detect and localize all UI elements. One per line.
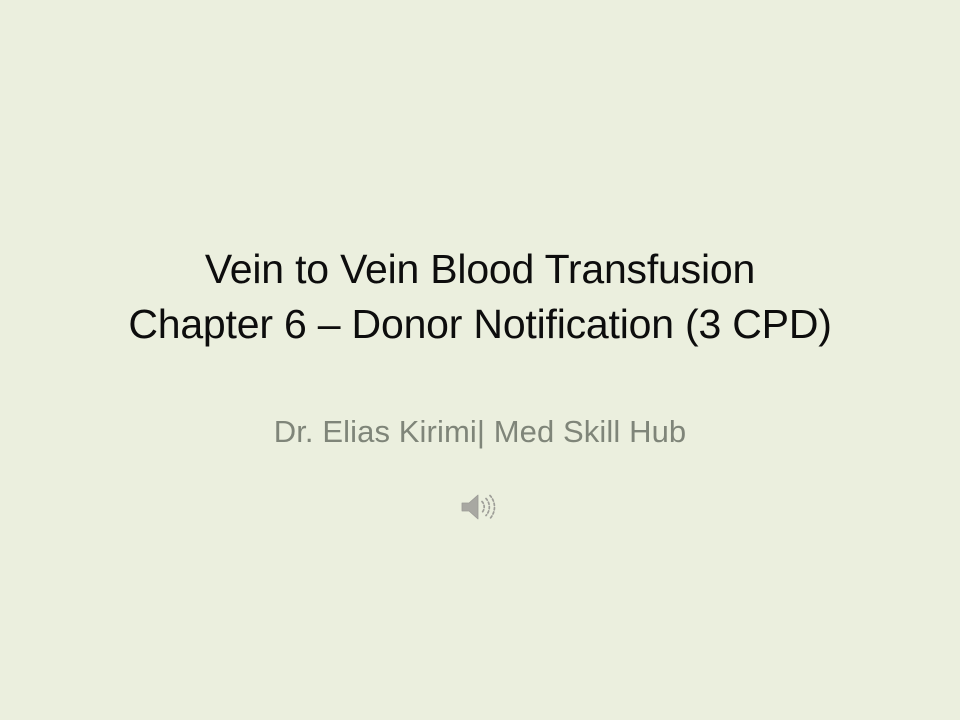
slide-subtitle: Dr. Elias Kirimi| Med Skill Hub (0, 412, 960, 452)
slide-title: Vein to Vein Blood Transfusion Chapter 6… (0, 242, 960, 352)
audio-speaker-icon[interactable] (458, 492, 500, 522)
slide-subtitle-line-1: Dr. Elias Kirimi| Med Skill Hub (0, 412, 960, 452)
slide-title-line-2: Chapter 6 – Donor Notification (3 CPD) (0, 297, 960, 352)
slide-title-line-1: Vein to Vein Blood Transfusion (0, 242, 960, 297)
presentation-slide: Vein to Vein Blood Transfusion Chapter 6… (0, 0, 960, 720)
